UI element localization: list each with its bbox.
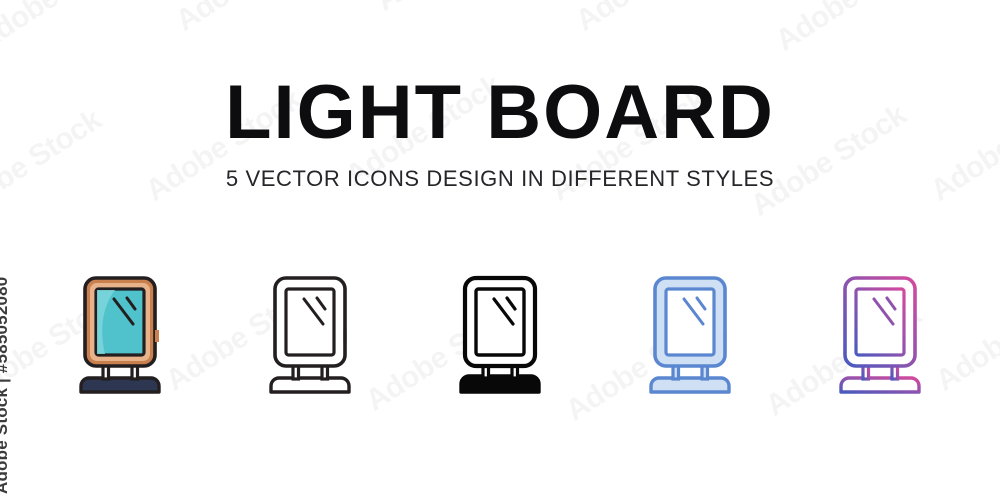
heading-block: LIGHT BOARD 5 VECTOR ICONS DESIGN IN DIF… bbox=[0, 72, 1000, 192]
board-screen bbox=[286, 289, 334, 355]
base-shape bbox=[461, 376, 539, 392]
side-watermark-text: Adobe Stock | #585052080 bbox=[0, 277, 12, 494]
watermark-tile: Adobe Stock bbox=[170, 0, 338, 39]
watermark-tile: Adobe Stock bbox=[770, 0, 938, 59]
base-shape bbox=[81, 378, 159, 392]
base-shape bbox=[651, 378, 729, 392]
board-screen bbox=[666, 289, 714, 355]
side-tab bbox=[155, 330, 159, 342]
icon-light-board-gradient[interactable] bbox=[815, 272, 945, 402]
watermark-tile: Adobe Stock bbox=[570, 0, 738, 39]
board-screen bbox=[476, 289, 524, 355]
base-shape bbox=[271, 378, 349, 392]
base-shape bbox=[841, 378, 919, 392]
watermark-tile: Adobe Stock bbox=[370, 0, 538, 19]
page-title: LIGHT BOARD bbox=[0, 72, 1000, 154]
page-subtitle: 5 VECTOR ICONS DESIGN IN DIFFERENT STYLE… bbox=[0, 166, 1000, 192]
icon-light-board-outline[interactable] bbox=[245, 272, 375, 402]
side-watermark: Adobe Stock | #585052080 bbox=[0, 0, 40, 500]
icon-light-board-duotone-blue[interactable] bbox=[625, 272, 755, 402]
icon-light-board-glyph[interactable] bbox=[435, 272, 565, 402]
stock-preview-canvas: Adobe Stock Adobe Stock Adobe Stock Adob… bbox=[0, 0, 1000, 500]
icon-row bbox=[55, 272, 945, 402]
board-screen bbox=[856, 289, 904, 355]
icon-light-board-color[interactable] bbox=[55, 272, 185, 402]
